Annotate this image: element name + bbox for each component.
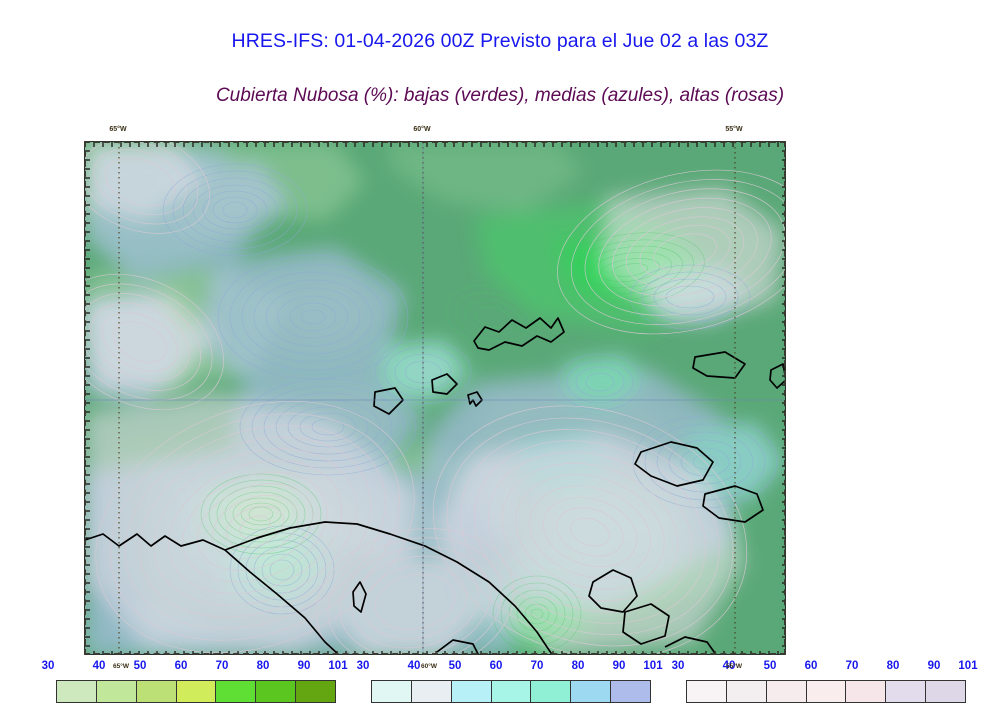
stray-lon-label-55w: 55°W: [726, 663, 742, 670]
cb-mid-tick-5: 80: [572, 660, 585, 672]
cb-low-cell-1[interactable]: [97, 681, 137, 702]
colorbar-mid-swatches[interactable]: [371, 680, 651, 703]
lon-label-65w: 65°W: [109, 126, 126, 133]
cb-mid-tick-3: 60: [490, 660, 503, 672]
cb-mid-cell-0[interactable]: [372, 681, 412, 702]
colorbar-mid-clouds[interactable]: 30 40 50 60 70 80 90 101 60°W: [363, 660, 653, 707]
forecast-map-page: HRES-IFS: 01-04-2026 00Z Previsto para e…: [0, 0, 1000, 707]
colorbar-high-swatches[interactable]: [686, 680, 966, 703]
cb-high-cell-2[interactable]: [767, 681, 807, 702]
cb-low-tick-2: 50: [134, 660, 147, 672]
cb-mid-cell-5[interactable]: [571, 681, 611, 702]
stray-lon-label-60w: 60°W: [421, 663, 437, 670]
stray-lon-label-65w: 65°W: [113, 663, 129, 670]
cb-low-cell-0[interactable]: [57, 681, 97, 702]
cb-high-tick-4: 70: [846, 660, 859, 672]
colorbar-low-clouds[interactable]: 30 40 50 60 70 80 90 101 65°W: [48, 660, 338, 707]
cb-mid-cell-1[interactable]: [412, 681, 452, 702]
cb-low-tick-1: 40: [93, 660, 106, 672]
page-subtitle: Cubierta Nubosa (%): bajas (verdes), med…: [0, 85, 1000, 107]
cb-low-tick-6: 90: [298, 660, 311, 672]
cb-mid-tick-0: 30: [357, 660, 370, 672]
cb-high-cell-6[interactable]: [926, 681, 965, 702]
cb-high-cell-5[interactable]: [886, 681, 926, 702]
cb-high-tick-5: 80: [887, 660, 900, 672]
cb-mid-tick-2: 50: [449, 660, 462, 672]
cb-mid-cell-6[interactable]: [611, 681, 650, 702]
cb-low-cell-2[interactable]: [137, 681, 177, 702]
cb-high-tick-7: 101: [958, 660, 977, 672]
cb-low-cell-4[interactable]: [216, 681, 256, 702]
page-title: HRES-IFS: 01-04-2026 00Z Previsto para e…: [0, 30, 1000, 53]
colorbar-low-ticks: 30 40 50 60 70 80 90 101 65°W: [48, 660, 338, 676]
cb-high-cell-0[interactable]: [687, 681, 727, 702]
cb-low-tick-7: 101: [328, 660, 347, 672]
cb-high-cell-4[interactable]: [846, 681, 886, 702]
colorbar-high-ticks: 30 40 50 60 70 80 90 101 55°W: [678, 660, 968, 676]
cb-mid-tick-7: 101: [643, 660, 662, 672]
cb-high-tick-6: 90: [928, 660, 941, 672]
cb-low-tick-5: 80: [257, 660, 270, 672]
cb-high-tick-3: 60: [805, 660, 818, 672]
cb-mid-cell-2[interactable]: [452, 681, 492, 702]
cb-high-tick-0: 30: [672, 660, 685, 672]
cb-low-cell-6[interactable]: [296, 681, 335, 702]
colorbar-mid-ticks: 30 40 50 60 70 80 90 101 60°W: [363, 660, 653, 676]
cb-mid-tick-6: 90: [613, 660, 626, 672]
cb-low-tick-0: 30: [42, 660, 55, 672]
cb-low-cell-5[interactable]: [256, 681, 296, 702]
cb-mid-tick-1: 40: [408, 660, 421, 672]
cb-high-cell-3[interactable]: [807, 681, 847, 702]
map-canvas: [85, 142, 786, 655]
cb-mid-tick-4: 70: [531, 660, 544, 672]
lon-label-55w: 55°W: [725, 126, 742, 133]
cb-high-cell-1[interactable]: [727, 681, 767, 702]
lon-label-60w: 60°W: [413, 126, 430, 133]
cb-mid-cell-3[interactable]: [492, 681, 532, 702]
cb-mid-cell-4[interactable]: [531, 681, 571, 702]
cb-low-tick-4: 70: [216, 660, 229, 672]
colorbar-high-clouds[interactable]: 30 40 50 60 70 80 90 101 55°W: [678, 660, 968, 707]
cb-low-cell-3[interactable]: [177, 681, 217, 702]
cb-low-tick-3: 60: [175, 660, 188, 672]
colorbar-low-swatches[interactable]: [56, 680, 336, 703]
cb-high-tick-2: 50: [764, 660, 777, 672]
weather-map[interactable]: [84, 141, 786, 655]
